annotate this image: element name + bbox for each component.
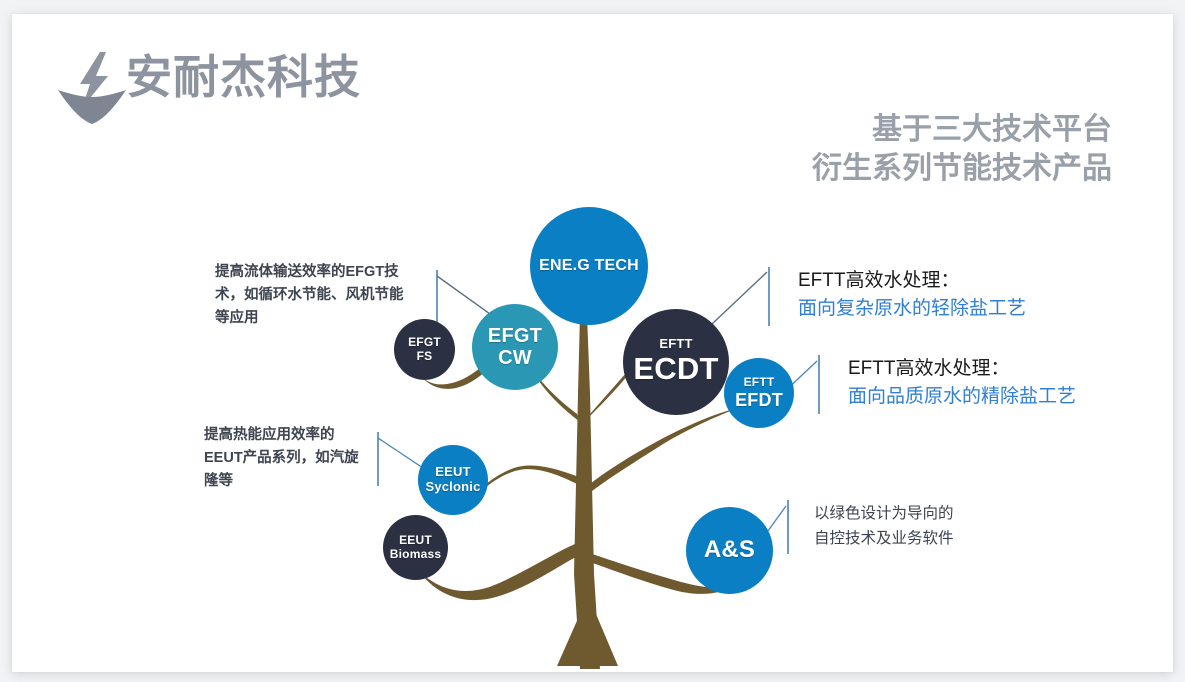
node-label-line-2: Syclonic — [425, 480, 480, 495]
node-label: ENE.G TECH — [539, 257, 639, 275]
node-label-line-1: EEUT — [399, 534, 432, 547]
node-label-line-2: Biomass — [390, 548, 441, 561]
node-label-small: EFTT — [744, 376, 775, 389]
node-eeut-biomass[interactable]: EEUT Biomass — [383, 515, 448, 580]
caption-title: EFTT高效水处理： — [798, 267, 1148, 295]
node-label-small: EFTT — [659, 337, 692, 352]
caption-efgt: 提高流体输送效率的EFGT技术，如循环水节能、风机节能等应用 — [215, 261, 415, 330]
node-label: A&S — [704, 537, 755, 564]
node-eftt-efdt[interactable]: EFTT EFDT — [724, 358, 794, 428]
node-eneg-tech[interactable]: ENE.G TECH — [530, 207, 648, 325]
node-label-line-1: EEUT — [435, 465, 470, 480]
node-label-line-1: EFGT — [408, 336, 441, 349]
node-label-line-2: CW — [498, 347, 532, 369]
node-label-large: EFDT — [735, 390, 783, 410]
node-eeut-syclonic[interactable]: EEUT Syclonic — [418, 445, 488, 515]
caption-body: 面向复杂原水的轻除盐工艺 — [798, 295, 1148, 323]
caption-as: 以绿色设计为导向的 自控技术及业务软件 — [814, 501, 1004, 551]
node-eftt-ecdt[interactable]: EFTT ECDT — [623, 309, 729, 415]
node-efgt-cw[interactable]: EFGT CW — [472, 304, 558, 390]
caption-eftt-light-desalination: EFTT高效水处理： 面向复杂原水的轻除盐工艺 — [798, 267, 1148, 322]
caption-body: 面向品质原水的精除盐工艺 — [848, 383, 1168, 411]
slide-canvas: 安耐杰科技 基于三大技术平台 衍生系列节能技术产品 — [12, 14, 1173, 672]
caption-eftt-fine-desalination: EFTT高效水处理： 面向品质原水的精除盐工艺 — [848, 355, 1168, 410]
caption-eeut: 提高热能应用效率的EEUT产品系列，如汽旋隆等 — [204, 424, 364, 493]
caption-line-1: 以绿色设计为导向的 — [814, 501, 1004, 526]
technology-tree-graphic — [12, 14, 1173, 672]
node-label-line-1: EFGT — [488, 325, 542, 347]
caption-line-2: 自控技术及业务软件 — [814, 526, 1004, 551]
node-as[interactable]: A&S — [686, 507, 773, 594]
node-label-large: ECDT — [633, 352, 718, 387]
node-label-line-2: FS — [417, 350, 433, 363]
caption-title: EFTT高效水处理： — [848, 355, 1168, 383]
